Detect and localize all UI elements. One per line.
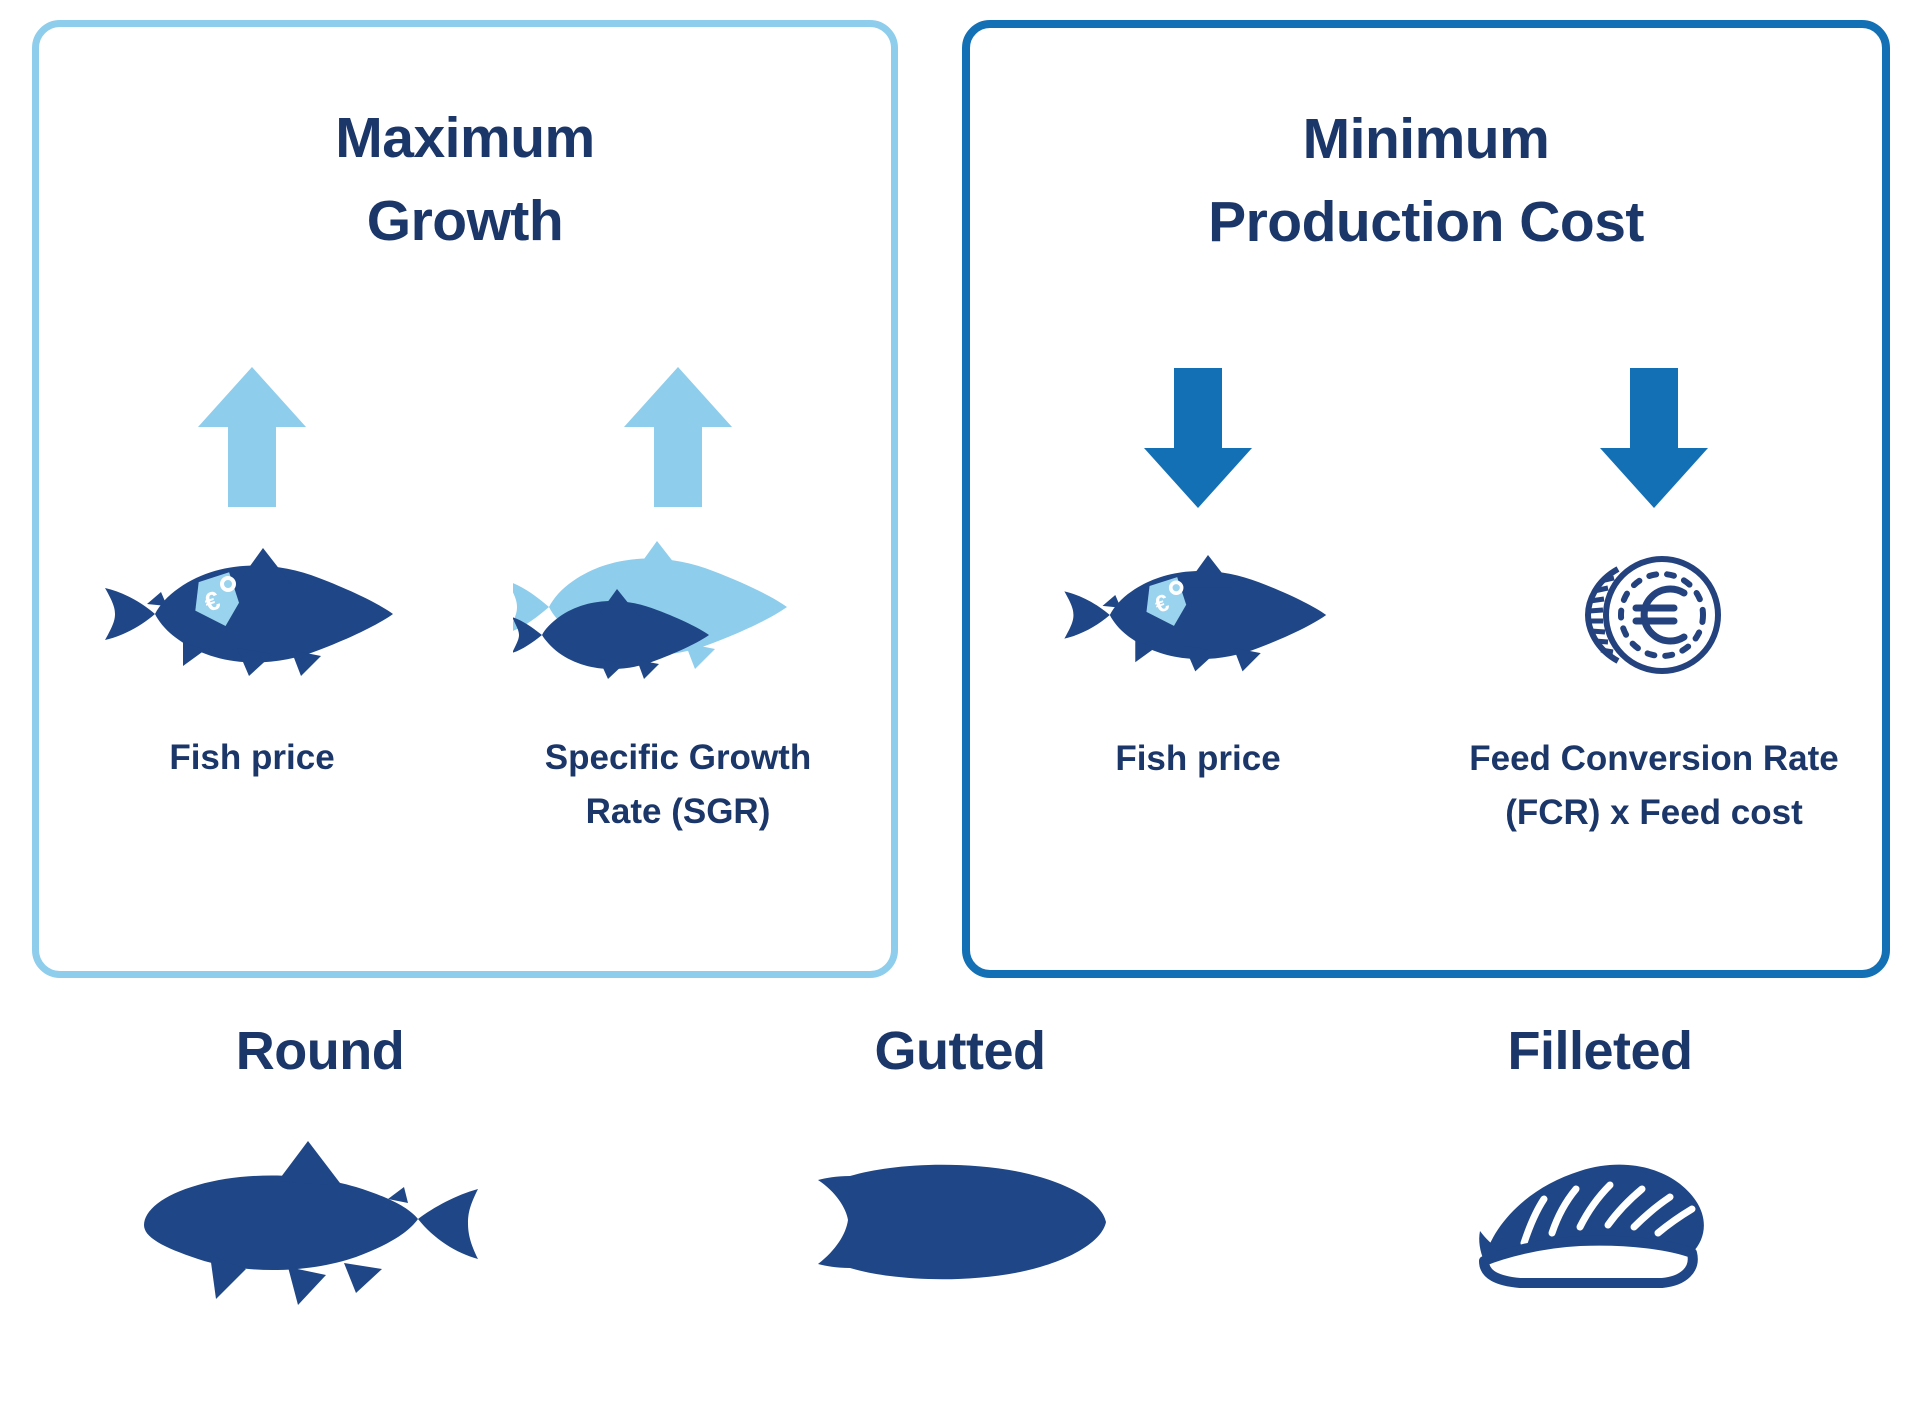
euro-coin-icon — [1574, 540, 1734, 690]
whole-fish-icon — [130, 1128, 510, 1318]
panel-title-maximum-growth: Maximum Growth — [65, 97, 866, 262]
sushi-fillet-icon — [1470, 1128, 1730, 1318]
metric-label-feed-conversion-rate: Feed Conversion Rate (FCR) x Feed cost — [1469, 732, 1839, 841]
metric-label-fish-price: Fish price — [169, 731, 334, 785]
fish-with-price-tag-icon: € — [87, 539, 417, 689]
panel-columns-maximum-growth: € Fish price — [39, 367, 891, 840]
gutted-fish-icon — [810, 1128, 1110, 1318]
infographic-canvas: Maximum Growth — [0, 0, 1920, 1420]
metric-specific-growth-rate: Specific Growth Rate (SGR) — [486, 367, 869, 840]
product-form-filleted: Filleted — [1283, 1020, 1917, 1318]
arrow-down-icon — [1144, 368, 1252, 518]
product-forms-row: Round — [0, 1020, 1920, 1420]
panel-maximum-growth: Maximum Growth — [32, 20, 898, 978]
arrow-up-icon — [624, 367, 732, 517]
arrow-down-icon — [1600, 368, 1708, 518]
fish-with-price-tag-icon: € — [1048, 540, 1348, 690]
arrow-up-icon — [198, 367, 306, 517]
metric-label-line2: (FCR) x Feed cost — [1469, 786, 1839, 840]
metric-fish-price-growth: € Fish price — [60, 367, 443, 785]
metric-fish-price-cost: € Fish price — [993, 368, 1403, 786]
product-form-round: Round — [3, 1020, 637, 1318]
metric-label-line1: Specific Growth — [545, 731, 811, 785]
metric-feed-conversion-rate: Feed Conversion Rate (FCR) x Feed cost — [1449, 368, 1859, 841]
panel-title-line1: Maximum — [65, 97, 866, 180]
panels-row: Maximum Growth — [0, 0, 1920, 1000]
metric-label-specific-growth-rate: Specific Growth Rate (SGR) — [545, 731, 811, 840]
product-form-label-round: Round — [236, 1020, 404, 1082]
product-form-label-gutted: Gutted — [875, 1020, 1046, 1082]
two-fish-growth-icon — [513, 539, 843, 689]
panel-title-line2: Production Cost — [997, 181, 1854, 264]
metric-label-line2: Rate (SGR) — [545, 785, 811, 839]
product-form-gutted: Gutted — [643, 1020, 1277, 1318]
panel-title-minimum-production-cost: Minimum Production Cost — [997, 98, 1854, 263]
panel-title-line1: Minimum — [997, 98, 1854, 181]
product-form-label-filleted: Filleted — [1507, 1020, 1692, 1082]
metric-label-fish-price: Fish price — [1115, 732, 1280, 786]
panel-columns-minimum-production-cost: € Fish price — [970, 368, 1882, 841]
metric-label-line1: Feed Conversion Rate — [1469, 732, 1839, 786]
panel-minimum-production-cost: Minimum Production Cost — [962, 20, 1890, 978]
panel-title-line2: Growth — [65, 180, 866, 263]
